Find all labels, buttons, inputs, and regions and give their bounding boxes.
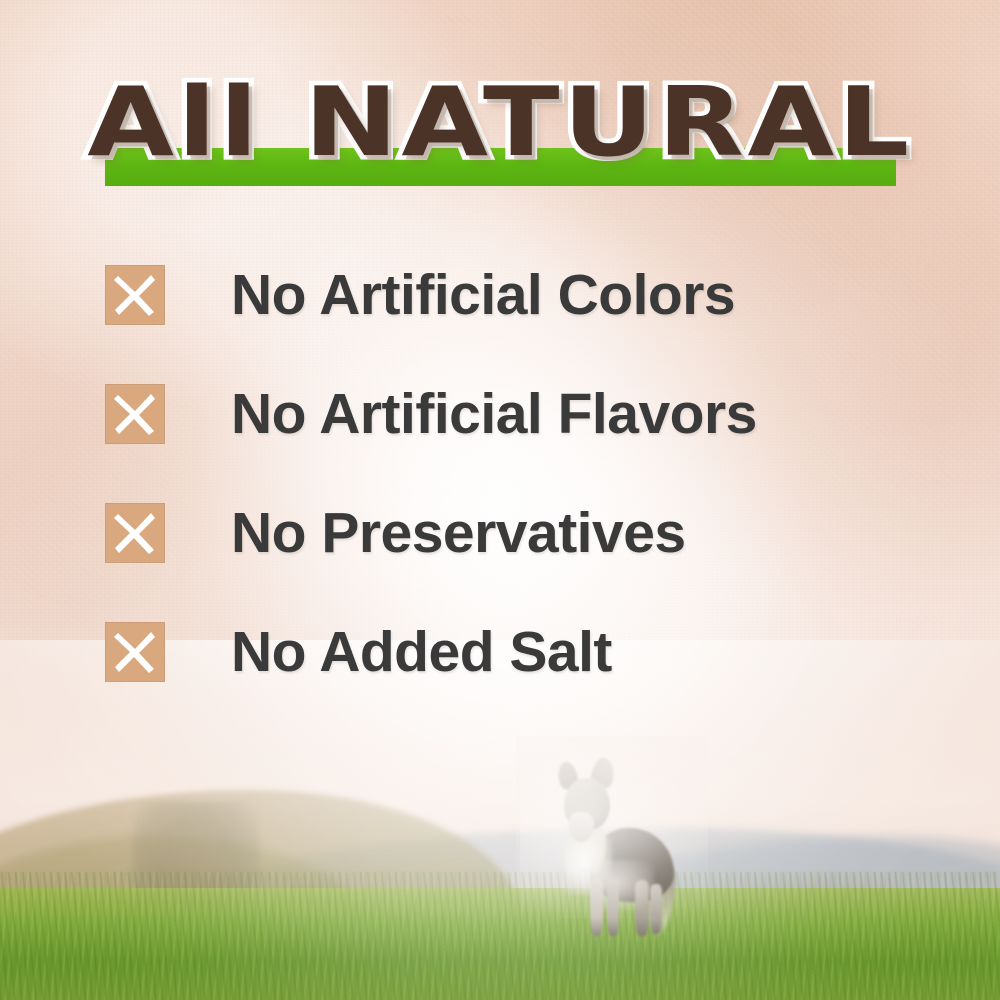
x-mark-icon <box>105 622 165 682</box>
list-item: No Added Salt <box>105 619 925 738</box>
x-mark-icon <box>105 384 165 444</box>
x-mark-icon <box>105 503 165 563</box>
list-item-label: No Added Salt <box>231 611 612 693</box>
page-title: All NATURAL <box>0 74 1000 172</box>
list-item: No Artificial Flavors <box>105 381 925 500</box>
grass-texture <box>0 872 1000 1000</box>
list-item-label: No Artificial Colors <box>231 254 735 336</box>
all-natural-poster: All NATURAL No Artificial Colors No Arti… <box>0 0 1000 1000</box>
list-item-label: No Artificial Flavors <box>231 373 757 455</box>
dog-front-leg-left <box>590 878 603 936</box>
x-mark-icon <box>105 265 165 325</box>
list-item-label: No Preservatives <box>231 492 686 574</box>
list-item: No Artificial Colors <box>105 262 925 381</box>
feature-list: No Artificial Colors No Artificial Flavo… <box>105 262 925 738</box>
border-collie-dog <box>536 756 686 942</box>
dog-chest-ruff <box>564 836 612 894</box>
list-item: No Preservatives <box>105 500 925 619</box>
dog-front-leg-right <box>607 882 619 936</box>
